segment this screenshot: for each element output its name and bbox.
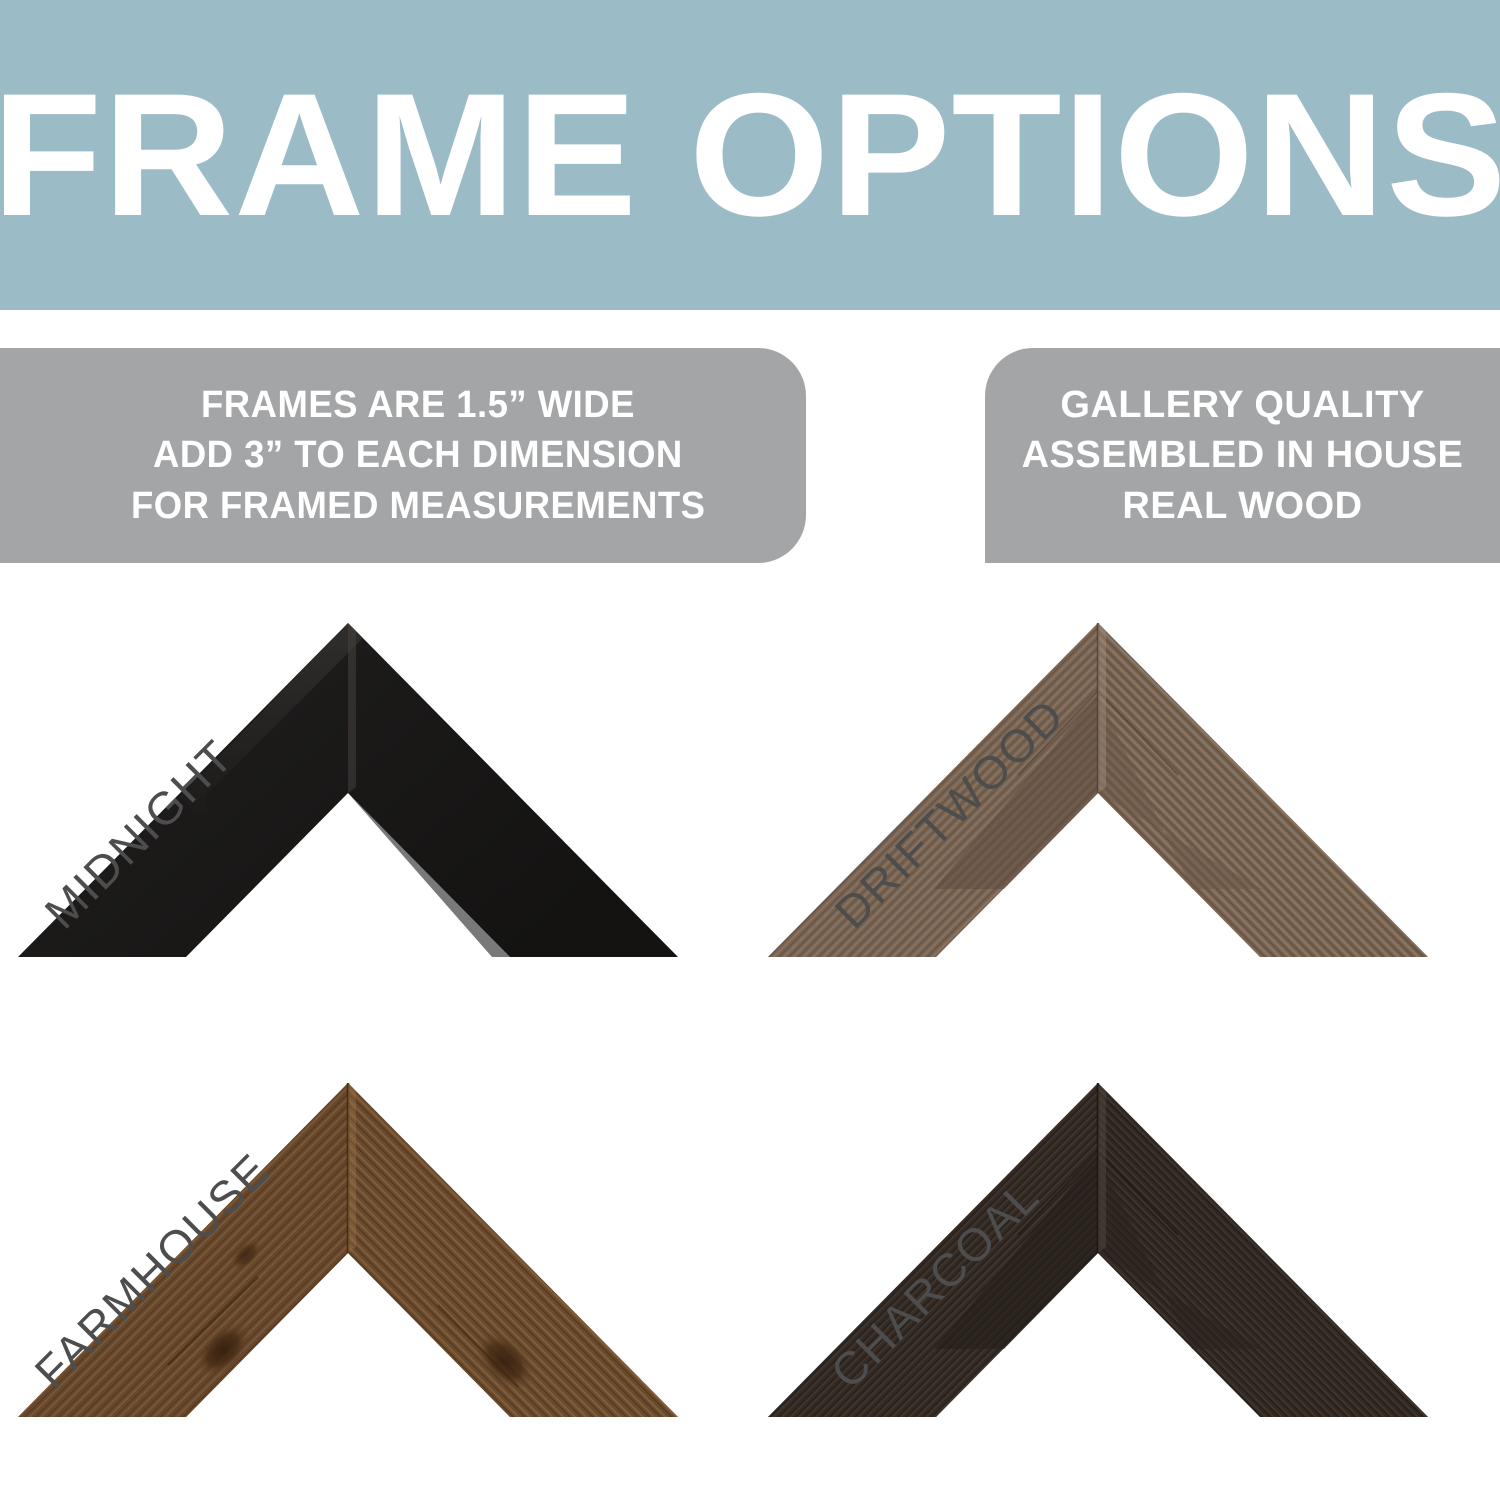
measurements-info-box: FRAMES ARE 1.5” WIDE ADD 3” TO EACH DIME… <box>0 348 806 563</box>
frame-options-infographic: FRAME OPTIONS FRAMES ARE 1.5” WIDE ADD 3… <box>0 0 1500 1500</box>
frame-sample-driftwood[interactable] <box>750 580 1500 1040</box>
quality-line-3: REAL WOOD <box>1122 481 1362 532</box>
quality-line-1: GALLERY QUALITY <box>1060 380 1424 431</box>
frame-corner-midnight <box>18 605 678 965</box>
measurements-line-1: FRAMES ARE 1.5” WIDE <box>201 380 635 431</box>
header-banner: FRAME OPTIONS <box>0 0 1500 310</box>
frame-sample-charcoal[interactable] <box>750 1040 1500 1500</box>
page-title: FRAME OPTIONS <box>0 68 1500 243</box>
frame-sample-midnight[interactable] <box>0 580 750 1040</box>
quality-line-2: ASSEMBLED IN HOUSE <box>1022 430 1464 481</box>
measurements-line-3: FOR FRAMED MEASUREMENTS <box>131 481 705 532</box>
quality-info-box: GALLERY QUALITY ASSEMBLED IN HOUSE REAL … <box>985 348 1500 563</box>
frame-sample-farmhouse[interactable] <box>0 1040 750 1500</box>
frame-samples-grid <box>0 580 1500 1500</box>
measurements-line-2: ADD 3” TO EACH DIMENSION <box>153 430 683 481</box>
frame-corner-farmhouse <box>18 1065 678 1425</box>
